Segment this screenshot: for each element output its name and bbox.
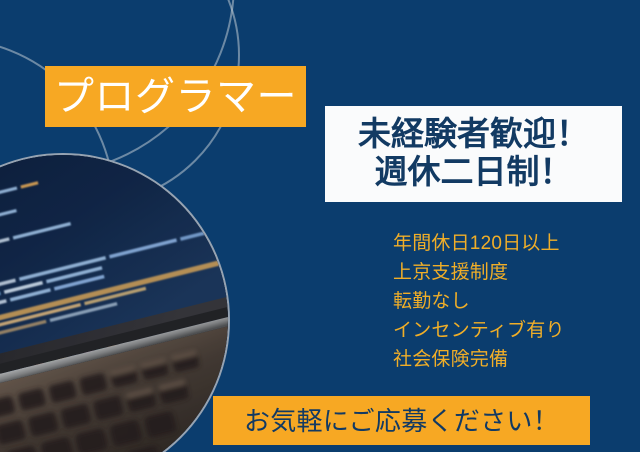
- job-title-banner: プログラマー: [45, 66, 306, 127]
- job-ad-poster: プログラマー 未経験者歓迎！ 週休二日制！ 年間休日120日以上 上京支援制度 …: [0, 0, 640, 452]
- benefit-item: インセンティブ有り: [393, 316, 565, 345]
- headline-line-1: 未経験者歓迎！: [358, 115, 589, 153]
- benefit-item: 年間休日120日以上: [393, 229, 565, 258]
- call-to-action-label: お気軽にご応募ください！: [244, 408, 559, 434]
- headline-panel-inner: 未経験者歓迎！ 週休二日制！: [325, 106, 622, 202]
- laptop-photo-image: [0, 155, 228, 452]
- job-title-label: プログラマー: [54, 77, 297, 117]
- laptop-photo-circle: [0, 153, 230, 452]
- benefit-item: 転勤なし: [393, 287, 565, 316]
- benefit-item: 社会保険完備: [393, 345, 565, 374]
- benefits-list: 年間休日120日以上 上京支援制度 転勤なし インセンティブ有り 社会保険完備: [393, 229, 565, 374]
- benefit-item: 上京支援制度: [393, 258, 565, 287]
- call-to-action-banner[interactable]: お気軽にご応募ください！: [213, 396, 590, 445]
- headline-panel: 未経験者歓迎！ 週休二日制！: [321, 102, 626, 206]
- headline-line-2: 週休二日制！: [375, 153, 573, 191]
- laptop-with-code-photo: [0, 155, 228, 452]
